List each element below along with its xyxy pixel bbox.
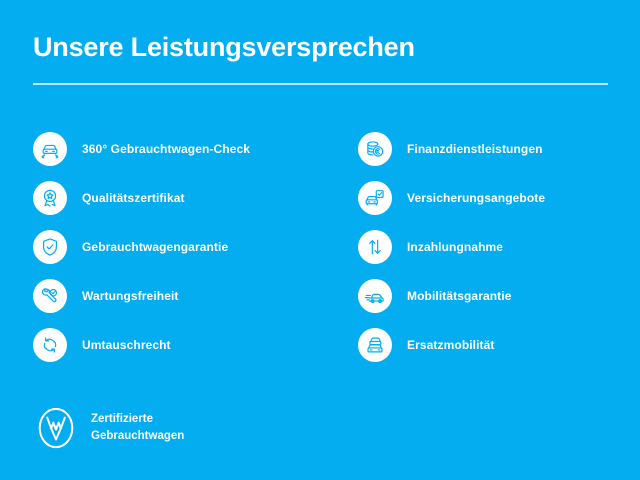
feature-label: Ersatzmobilität bbox=[407, 338, 495, 352]
coins-euro-icon bbox=[358, 132, 392, 166]
feature-item: Versicherungsangebote bbox=[358, 173, 640, 222]
feature-label: Mobilitätsgarantie bbox=[407, 289, 511, 303]
feature-item: Finanzdienstleistungen bbox=[358, 124, 640, 173]
car-check-arrows-icon bbox=[33, 132, 67, 166]
feature-item: Mobilitätsgarantie bbox=[358, 271, 640, 320]
feature-item: Ersatzmobilität bbox=[358, 320, 640, 369]
feature-item: Gebrauchtwagengarantie bbox=[33, 222, 320, 271]
promise-poster: Unsere Leistungsversprechen 360° Gebrau bbox=[0, 0, 640, 480]
feature-label: Gebrauchtwagengarantie bbox=[82, 240, 228, 254]
feature-item: Qualitätszertifikat bbox=[33, 173, 320, 222]
title-divider bbox=[33, 83, 608, 85]
up-down-arrows-icon bbox=[358, 230, 392, 264]
feature-item: Inzahlungnahme bbox=[358, 222, 640, 271]
wrench-check-icon bbox=[33, 279, 67, 313]
brand-block: Zertifizierte Gebrauchtwagen bbox=[33, 405, 184, 451]
car-motion-icon bbox=[358, 279, 392, 313]
feature-label: 360° Gebrauchtwagen-Check bbox=[82, 142, 250, 156]
feature-label: Umtauschrecht bbox=[82, 338, 171, 352]
feature-column-right: Finanzdienstleistungen Versicherungsange… bbox=[320, 124, 640, 369]
feature-columns: 360° Gebrauchtwagen-Check Qualitätszerti… bbox=[0, 124, 640, 369]
feature-label: Inzahlungnahme bbox=[407, 240, 503, 254]
feature-label: Finanzdienstleistungen bbox=[407, 142, 543, 156]
brand-line-2: Gebrauchtwagen bbox=[91, 428, 184, 445]
award-rosette-icon bbox=[33, 181, 67, 215]
brand-text: Zertifizierte Gebrauchtwagen bbox=[91, 411, 184, 444]
feature-column-left: 360° Gebrauchtwagen-Check Qualitätszerti… bbox=[0, 124, 320, 369]
feature-item: Umtauschrecht bbox=[33, 320, 320, 369]
exchange-arrows-icon bbox=[33, 328, 67, 362]
brand-line-1: Zertifizierte bbox=[91, 411, 184, 428]
vw-logo-icon bbox=[33, 405, 79, 451]
page-title: Unsere Leistungsversprechen bbox=[33, 33, 415, 63]
two-cars-icon bbox=[358, 328, 392, 362]
feature-label: Qualitätszertifikat bbox=[82, 191, 185, 205]
feature-label: Wartungsfreiheit bbox=[82, 289, 179, 303]
feature-label: Versicherungsangebote bbox=[407, 191, 545, 205]
feature-item: 360° Gebrauchtwagen-Check bbox=[33, 124, 320, 173]
feature-item: Wartungsfreiheit bbox=[33, 271, 320, 320]
car-document-check-icon bbox=[358, 181, 392, 215]
shield-check-icon bbox=[33, 230, 67, 264]
